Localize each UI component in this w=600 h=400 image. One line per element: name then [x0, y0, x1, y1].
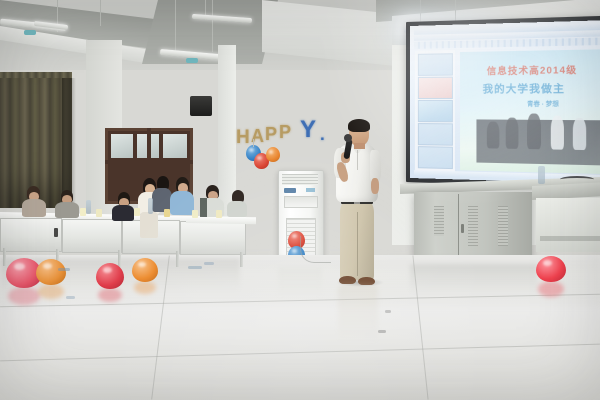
presenter-neck [354, 143, 365, 149]
table-panel-latch [54, 228, 58, 237]
guest-body-accent [200, 198, 207, 217]
floor-debris [378, 330, 386, 333]
light-rod-4 [212, 0, 213, 52]
happy-period: . [320, 126, 325, 143]
photograph-classroom-presentation: H A P P Y . [0, 0, 600, 400]
floor-debris [204, 262, 214, 265]
table-leg [240, 252, 243, 267]
guest-body [22, 199, 46, 217]
slide-figure [551, 116, 564, 150]
table-leg [118, 250, 121, 267]
balloon-floor-orange-mid [132, 258, 158, 282]
slide-figure [573, 118, 586, 150]
podium-wing-shadow-line [540, 236, 600, 241]
floor-debris [58, 268, 70, 271]
balloon-reflection [134, 281, 156, 294]
guest-legs [140, 212, 158, 238]
air-conditioner-display-panel [284, 188, 296, 193]
air-conditioner-top-grill [282, 174, 318, 185]
slide-title: 信息技术高2014级 [487, 63, 577, 78]
floor-debris [385, 310, 391, 313]
water-bottle-table [148, 198, 153, 214]
balloon-wall-orange [266, 147, 280, 162]
light-rod-2 [100, 0, 101, 26]
podium-handle [461, 224, 464, 233]
drink-cup [216, 210, 222, 218]
slide-figure [527, 114, 541, 150]
slide-thumbnail[interactable] [418, 123, 453, 146]
table-leg [3, 248, 6, 266]
air-conditioner-logo [306, 188, 315, 192]
slide-thumbnail[interactable] [418, 100, 453, 122]
floor-reflection-podium [410, 264, 538, 294]
happy-letter-p2: P [279, 123, 291, 141]
balloon-floor-red-mid [96, 263, 124, 289]
presenter-eye-left [353, 130, 356, 132]
happy-letter-h: H [236, 128, 250, 147]
ceiling-light-1-bracket [24, 30, 36, 35]
slide-thumbnail[interactable] [418, 53, 453, 76]
podium-vent-right [498, 206, 508, 246]
air-conditioner-mid-slot [284, 196, 318, 208]
guest-body [55, 202, 79, 218]
table-leg [176, 251, 179, 267]
slide-thumbnail[interactable] [418, 77, 453, 99]
balloon-floor-red-right [536, 256, 566, 282]
podium-vent-left [434, 206, 444, 236]
balloon-floor-orange-left [36, 259, 66, 285]
drink-cup [192, 210, 198, 218]
podium-vent-mid [468, 206, 478, 246]
happy-letter-y: Y [300, 118, 316, 142]
floor-debris [188, 266, 202, 269]
presenter-hair [348, 119, 370, 132]
presenter-trouser-crease [357, 212, 358, 276]
balloon-string-wall [253, 139, 254, 147]
podium-cable [560, 176, 594, 183]
balloon-reflection [98, 288, 122, 302]
podium-door-seam [458, 194, 459, 260]
podium-wing-leg [536, 198, 600, 252]
wall-mounted-speaker [190, 96, 212, 116]
microphone-head [344, 134, 352, 142]
balloon-reflection [538, 281, 564, 297]
drink-cup [164, 209, 170, 217]
presenter-eye-right [362, 130, 365, 132]
table-panel [0, 218, 62, 252]
presenter-shoe-left [339, 276, 356, 284]
slide-tagline: 青春 · 梦想 [527, 99, 559, 109]
presenter-floor-reflection [338, 284, 378, 344]
presenter-shirt-placket [357, 150, 358, 170]
light-rod-3 [175, 0, 176, 56]
guest-body [227, 201, 247, 217]
drink-cup [134, 208, 140, 216]
slide-thumbnail[interactable] [418, 146, 453, 169]
window-pane-3 [163, 134, 187, 158]
floor-debris [66, 296, 75, 299]
guest-body [170, 191, 194, 215]
drink-cup [96, 209, 102, 217]
balloon-reflection [8, 287, 40, 305]
happy-letter-p1: P [265, 125, 277, 143]
slide-figure [506, 118, 519, 149]
balloon-reflection [38, 284, 64, 299]
water-bottle-table [86, 200, 91, 214]
guest-body [112, 205, 134, 221]
floor-reflection-ac [278, 268, 322, 298]
projection-screen: 信息技术高2014级 我的大学我做主 青春 · 梦想 [410, 20, 600, 184]
window-pane-1 [111, 134, 133, 158]
table-panel [62, 219, 122, 253]
slide-figure [487, 122, 500, 149]
water-bottle-podium [538, 166, 545, 184]
table-panel [180, 221, 246, 255]
floor-cable [300, 236, 331, 263]
presenter-forearm-right [371, 178, 379, 194]
active-slide[interactable]: 信息技术高2014级 我的大学我做主 青春 · 梦想 [460, 49, 600, 174]
curtain-shadow [62, 78, 76, 208]
slide-subtitle: 我的大学我做主 [483, 80, 565, 96]
